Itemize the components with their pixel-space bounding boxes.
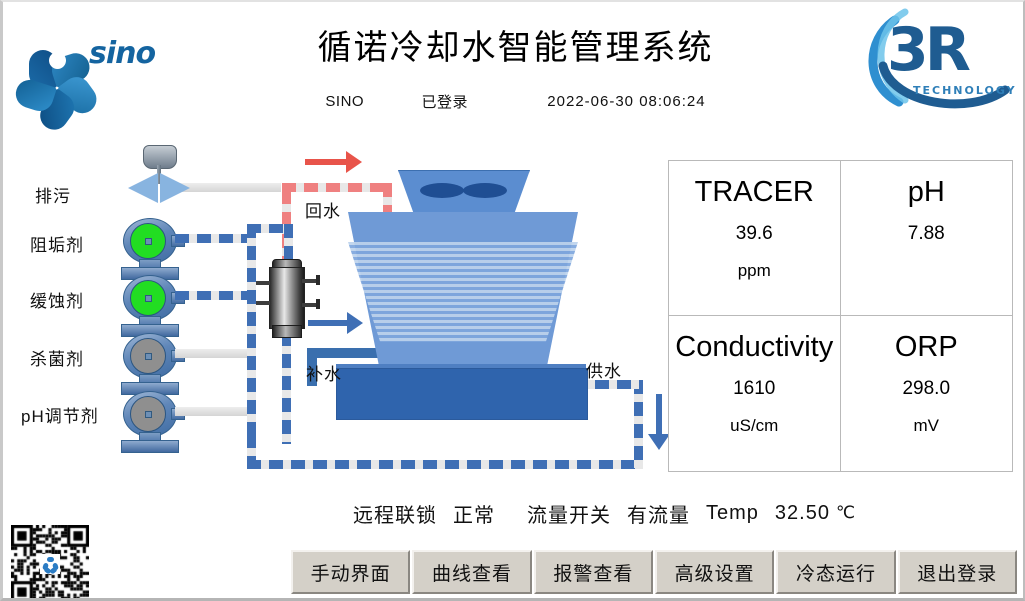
label-ph-adjuster: pH调节剂 <box>21 402 99 427</box>
tower-basin <box>336 368 588 420</box>
datetime: 2022-06-30 08:06:24 <box>547 93 705 110</box>
blowdown-valve-icon[interactable] <box>127 145 191 203</box>
dosing-line-3 <box>175 349 253 358</box>
measurement-value: 298.0 <box>902 378 950 400</box>
dosing-line-1 <box>175 234 253 243</box>
measurement-cell-conductivity: Conductivity 1610 uS/cm <box>669 316 841 471</box>
measurement-value: 39.6 <box>736 223 773 245</box>
pump-corrosion-inhibitor[interactable] <box>121 275 177 337</box>
supply-pipe-left-riser <box>247 224 256 442</box>
temp-label: Temp <box>706 502 759 525</box>
temp-value: 32.50 <box>775 502 830 525</box>
supply-flow-arrow-shaft <box>656 394 662 438</box>
page-title: 循诺冷却水智能管理系统 <box>3 20 1025 69</box>
measurement-cell-tracer: TRACER 39.6 ppm <box>669 161 841 316</box>
button-cold-run[interactable]: 冷态运行 <box>776 550 895 594</box>
remote-interlock-value: 正常 <box>453 499 495 528</box>
measurement-unit: mV <box>914 416 940 436</box>
fan-blade-left-icon <box>420 183 464 198</box>
tower-fill-media <box>348 242 578 342</box>
measurement-name: TRACER <box>695 175 814 209</box>
valve-body-right <box>160 173 190 203</box>
pump-ph-adjuster[interactable] <box>121 391 177 453</box>
button-alarm-view[interactable]: 报警查看 <box>534 550 653 594</box>
measurement-value: 7.88 <box>908 223 945 245</box>
side-stream-filter-icon[interactable] <box>265 257 307 339</box>
status-bar: 远程联锁 正常 流量开关 有流量 Temp 32.50 ℃ <box>353 499 1013 527</box>
valve-body-left <box>128 173 158 203</box>
tower-fan-deck <box>398 170 530 214</box>
button-trend-view[interactable]: 曲线查看 <box>412 550 531 594</box>
label-biocide: 杀菌剂 <box>30 345 84 370</box>
measurement-name: ORP <box>895 330 958 364</box>
label-corrosion-inhibitor: 缓蚀剂 <box>30 287 84 312</box>
makeup-flow-arrow-shaft <box>308 320 348 326</box>
measurement-unit: ppm <box>738 261 771 281</box>
button-manual-interface[interactable]: 手动界面 <box>291 550 410 594</box>
temp-unit: ℃ <box>836 503 856 523</box>
pump-biocide[interactable] <box>121 333 177 395</box>
supply-pipe-vessel-inlet <box>284 224 293 260</box>
flow-switch-value: 有流量 <box>627 499 690 528</box>
button-bar: 手动界面 曲线查看 报警查看 高级设置 冷态运行 退出登录 <box>291 550 1017 594</box>
button-advanced-settings[interactable]: 高级设置 <box>655 550 774 594</box>
supply-pipe-vessel-outlet <box>282 332 291 444</box>
supply-pipe-left-corner <box>247 434 256 468</box>
flow-switch-label: 流量开关 <box>527 499 611 528</box>
measurement-name: pH <box>908 175 945 209</box>
measurement-cell-ph: pH 7.88 <box>841 161 1013 316</box>
supply-pipe-bottom <box>247 460 643 469</box>
label-return-water: 回水 <box>305 197 341 222</box>
dosing-line-2 <box>175 291 253 300</box>
login-state: 已登录 <box>421 91 468 112</box>
button-logout[interactable]: 退出登录 <box>898 550 1017 594</box>
qr-code <box>11 525 89 601</box>
label-blowdown: 排污 <box>35 182 71 207</box>
supply-flow-arrow-head <box>648 434 670 450</box>
measurement-unit: uS/cm <box>730 416 778 436</box>
remote-interlock-label: 远程联锁 <box>353 499 437 528</box>
qr-center-logo <box>40 554 60 574</box>
login-status-bar: SINO 已登录 2022-06-30 08:06:24 <box>3 91 1025 112</box>
measurement-panel: TRACER 39.6 ppm pH 7.88 Conductivity 161… <box>668 160 1013 472</box>
pump-scale-inhibitor[interactable] <box>121 218 177 280</box>
measurement-value: 1610 <box>733 378 775 400</box>
user-name: SINO <box>325 93 364 110</box>
label-supply-water: 供水 <box>586 357 622 382</box>
measurement-name: Conductivity <box>675 330 833 364</box>
supply-pipe-right-riser <box>634 380 643 468</box>
hmi-screen: sino 3R TECHNOLOGY 循诺冷却水智能管理系统 SINO 已登录 … <box>0 0 1025 601</box>
measurement-cell-orp: ORP 298.0 mV <box>841 316 1013 471</box>
fan-blade-right-icon <box>463 183 507 198</box>
return-flow-arrow-shaft <box>305 159 347 165</box>
label-makeup-water: 补水 <box>306 360 342 385</box>
cooling-tower <box>348 170 578 420</box>
label-scale-inhibitor: 阻垢剂 <box>30 231 84 256</box>
dosing-line-4 <box>175 407 253 416</box>
